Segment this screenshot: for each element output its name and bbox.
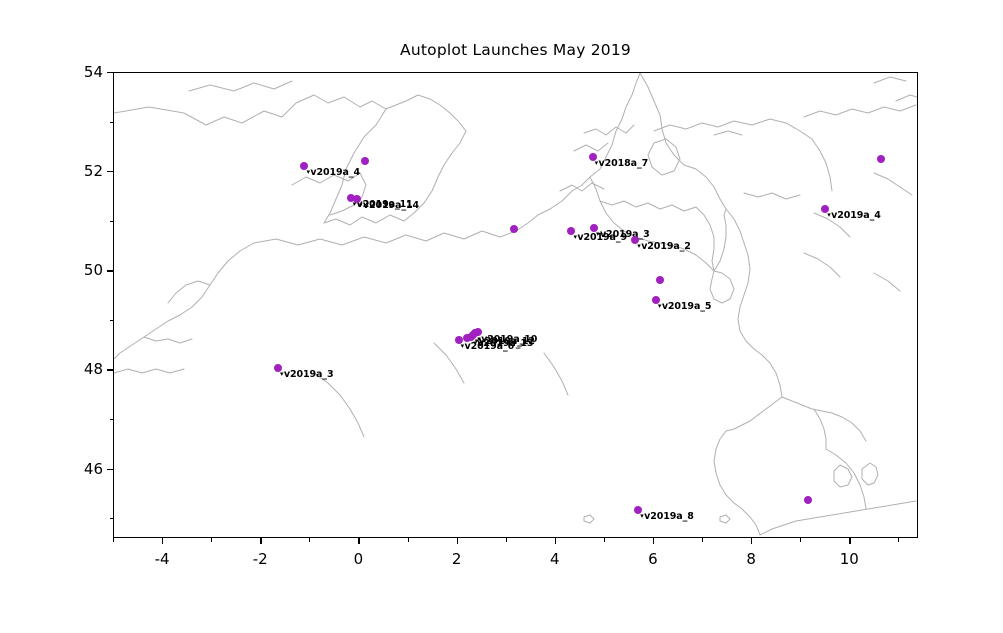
x-minor-tick bbox=[211, 538, 212, 542]
x-minor-tick bbox=[898, 538, 899, 542]
page-title: Autoplot Launches May 2019 bbox=[113, 41, 918, 59]
scatter-point-label: v2019a_6 bbox=[461, 342, 515, 352]
y-minor-tick bbox=[110, 518, 114, 519]
scatter-point-label: v2019a_4 bbox=[306, 168, 360, 178]
scatter-point bbox=[656, 276, 664, 284]
scatter-point bbox=[510, 225, 518, 233]
matplotlib-figure: Autoplot Launches May 2019 bbox=[0, 0, 1003, 633]
y-tick-label: 50 bbox=[65, 261, 103, 279]
x-tick-label: 0 bbox=[354, 550, 364, 568]
scatter-point-label: v2019a_5 bbox=[658, 302, 712, 312]
y-minor-tick bbox=[110, 122, 114, 123]
x-minor-tick bbox=[113, 538, 114, 542]
x-major-tick bbox=[849, 538, 850, 544]
x-major-tick bbox=[653, 538, 654, 544]
x-major-tick bbox=[457, 538, 458, 544]
scatter-point bbox=[877, 155, 885, 163]
x-minor-tick bbox=[408, 538, 409, 542]
x-major-tick bbox=[260, 538, 261, 544]
y-minor-tick bbox=[110, 419, 114, 420]
x-minor-tick bbox=[506, 538, 507, 542]
x-tick-label: 8 bbox=[746, 550, 756, 568]
scatter-point-label: v2019a_2 bbox=[637, 242, 691, 252]
scatter-point-label: v2019a_14 bbox=[359, 201, 419, 211]
x-minor-tick bbox=[800, 538, 801, 542]
x-major-tick bbox=[555, 538, 556, 544]
x-minor-tick bbox=[604, 538, 605, 542]
x-major-tick bbox=[751, 538, 752, 544]
scatter-point-label: v2018a_7 bbox=[595, 159, 649, 169]
y-major-tick bbox=[107, 369, 113, 370]
x-tick-label: 4 bbox=[550, 550, 560, 568]
y-tick-label: 52 bbox=[65, 162, 103, 180]
x-tick-label: 10 bbox=[840, 550, 859, 568]
y-major-tick bbox=[107, 270, 113, 271]
scatter-point bbox=[474, 328, 482, 336]
scatter-point-label: v2019a_3 bbox=[280, 370, 334, 380]
y-tick-label: 46 bbox=[65, 460, 103, 478]
scatter-points-layer: v2019a_4v2019a_11v2019a_14v2018a_7v2019a… bbox=[114, 73, 918, 538]
x-minor-tick bbox=[702, 538, 703, 542]
y-minor-tick bbox=[110, 221, 114, 222]
x-tick-label: -4 bbox=[155, 550, 170, 568]
scatter-point-label: v2019a_3 bbox=[596, 230, 650, 240]
x-minor-tick bbox=[309, 538, 310, 542]
plot-area[interactable]: v2019a_4v2019a_11v2019a_14v2018a_7v2019a… bbox=[113, 72, 918, 538]
y-major-tick bbox=[107, 72, 113, 73]
y-major-tick bbox=[107, 171, 113, 172]
scatter-point-label: v2019a_4 bbox=[827, 211, 881, 221]
x-tick-label: -2 bbox=[253, 550, 268, 568]
x-major-tick bbox=[162, 538, 163, 544]
scatter-point-label: v2019a_8 bbox=[640, 512, 694, 522]
y-minor-tick bbox=[110, 320, 114, 321]
scatter-point bbox=[361, 157, 369, 165]
x-major-tick bbox=[358, 538, 359, 544]
x-tick-label: 6 bbox=[648, 550, 658, 568]
x-tick-label: 2 bbox=[452, 550, 462, 568]
y-major-tick bbox=[107, 469, 113, 470]
scatter-point bbox=[804, 496, 812, 504]
y-tick-label: 54 bbox=[65, 63, 103, 81]
y-tick-label: 48 bbox=[65, 360, 103, 378]
